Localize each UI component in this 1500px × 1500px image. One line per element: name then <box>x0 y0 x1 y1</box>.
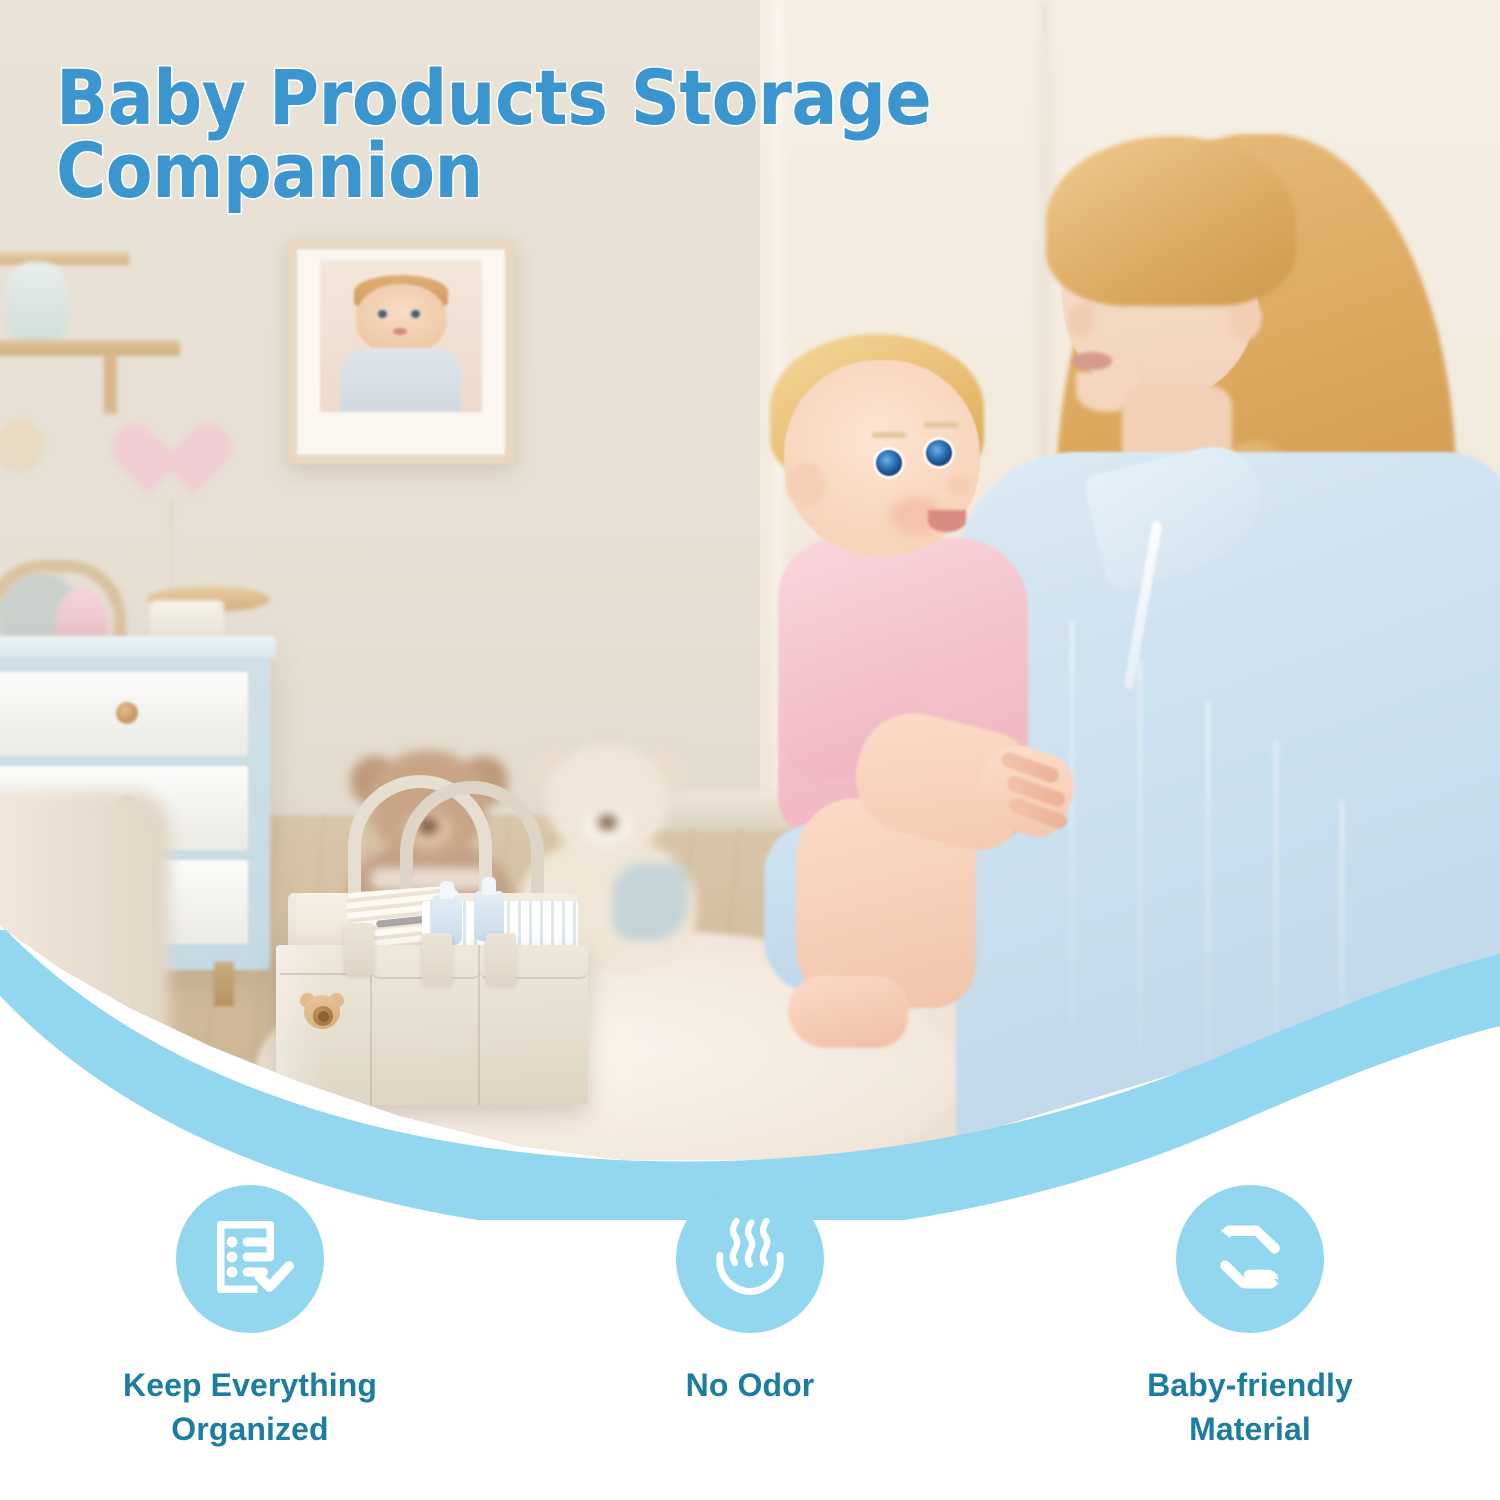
feature-no-odor: No Odor <box>500 1185 1000 1500</box>
portrait-body <box>341 348 461 412</box>
baby-eyebrow-right <box>924 422 958 428</box>
feature-label: No Odor <box>686 1363 815 1407</box>
page-title: Baby Products Storage Companion <box>56 62 1056 208</box>
feature-row: Keep Everything Organized <box>0 1185 1500 1500</box>
framed-baby-portrait <box>288 240 514 464</box>
feature-label-line-2: Organized <box>123 1407 377 1451</box>
feature-label-line-1: Keep Everything <box>123 1363 377 1407</box>
wall-shelf <box>0 340 180 356</box>
baby-eye-left <box>876 450 902 476</box>
mother-hair-top <box>1046 136 1296 306</box>
baby-nose <box>946 474 972 496</box>
dresser-top <box>0 636 276 658</box>
wave-divider <box>0 930 1500 1220</box>
portrait-image <box>320 260 482 412</box>
feature-label: Keep Everything Organized <box>123 1363 377 1451</box>
feature-icon-circle <box>176 1185 324 1333</box>
shelf-brace <box>104 352 117 414</box>
baby-eye-right <box>926 440 952 466</box>
wave-band <box>0 930 1500 1220</box>
baby-eyebrow-left <box>872 432 906 438</box>
baby-figure <box>760 328 1230 1028</box>
feature-keep-everything-organized: Keep Everything Organized <box>0 1185 500 1500</box>
feature-icon-circle <box>1176 1185 1324 1333</box>
shelf-vase <box>6 262 68 342</box>
bear-nose <box>598 815 617 830</box>
portrait-head <box>356 284 447 354</box>
checklist-icon <box>202 1209 298 1310</box>
portrait-eye-right <box>411 310 420 318</box>
odor-waves-icon <box>702 1209 798 1310</box>
bottle-cap <box>440 881 454 899</box>
headline-line-1: Baby Products Storage <box>56 62 1056 135</box>
caring-hands-icon <box>1202 1209 1298 1310</box>
baby-ear <box>786 462 826 508</box>
feature-label-line-1: Baby-friendly <box>1147 1363 1353 1407</box>
baby-mouth <box>928 510 966 532</box>
feature-label: Baby-friendly Material <box>1147 1363 1353 1451</box>
product-infographic: Baby Products Storage Companion <box>0 0 1500 1500</box>
feature-icon-circle <box>676 1185 824 1333</box>
dresser-knob-1 <box>116 702 138 724</box>
feature-label-line-1: No Odor <box>686 1363 815 1407</box>
bottle-cap <box>482 877 496 895</box>
upper-shelf <box>0 252 130 265</box>
heart-wall-decor <box>128 428 214 506</box>
headline-line-2: Companion <box>56 135 1056 208</box>
feature-baby-friendly-material: Baby-friendly Material <box>1000 1185 1500 1500</box>
feature-label-line-2: Material <box>1147 1407 1353 1451</box>
